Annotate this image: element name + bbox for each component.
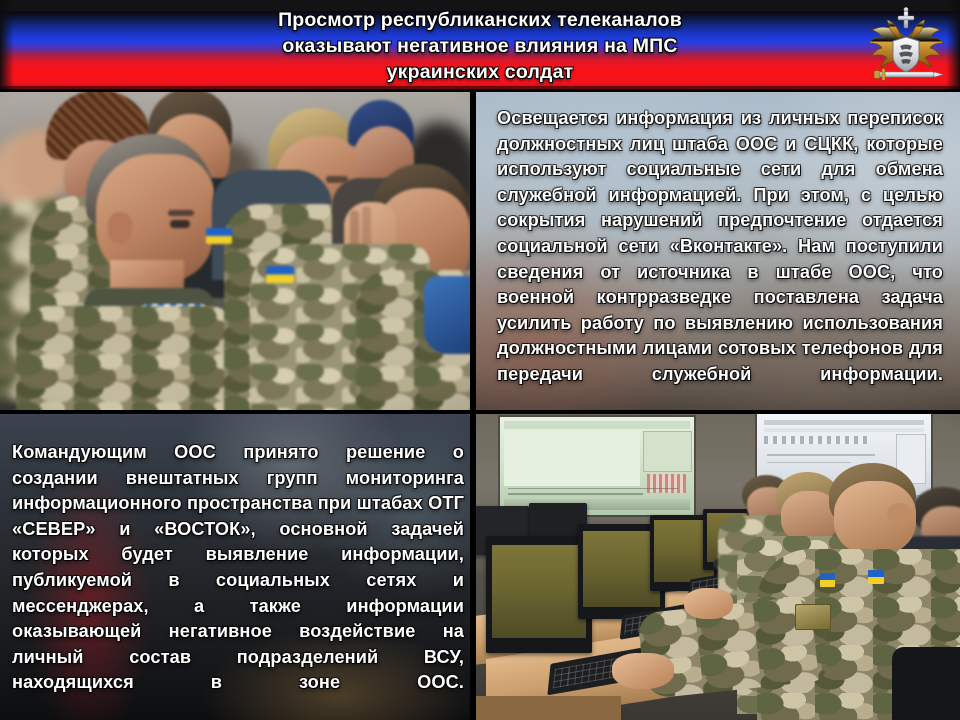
text-panel-bottom-left: Командующим ООС принято решение о создан… <box>0 414 470 720</box>
photo-soldiers-crowd-image <box>0 92 470 410</box>
photo-soldiers-crowd <box>0 92 470 410</box>
header-bevel-bottom <box>0 86 960 89</box>
text-panel-top-right: Освещается информация из личных переписо… <box>476 92 960 410</box>
text-panel-bottom-left-body: Командующим ООС принято решение о создан… <box>12 440 464 720</box>
header-bevel-left <box>0 0 14 89</box>
photo-computer-room-image <box>476 414 960 720</box>
slide-header: Просмотр республиканских телеканалов ока… <box>0 0 960 89</box>
header-bevel-right <box>946 0 960 89</box>
text-panel-top-right-body: Освещается информация из личных переписо… <box>497 106 943 410</box>
double-headed-eagle-emblem <box>864 4 948 86</box>
photo-computer-room <box>476 414 960 720</box>
page-title: Просмотр республиканских телеканалов ока… <box>120 7 840 85</box>
slide-root: Просмотр республиканских телеканалов ока… <box>0 0 960 720</box>
